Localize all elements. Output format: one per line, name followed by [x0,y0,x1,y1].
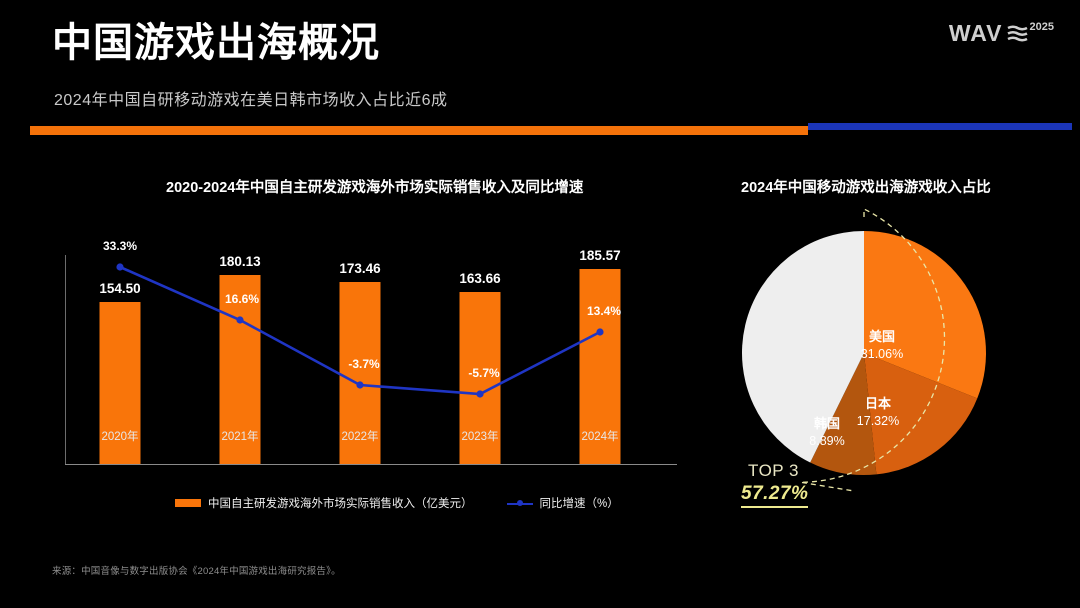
growth-rate-label: 13.4% [587,304,621,318]
x-axis-label: 2020年 [101,428,138,444]
pie-slice-label: 美国31.06% [842,328,922,362]
bar-column: 163.662023年 [423,254,538,464]
pie-slice-value: 31.06% [842,346,922,363]
top3-value: 57.27% [741,483,808,508]
pie-slice-name: 韩国 [787,415,867,433]
logo-year: 2025 [1030,22,1054,33]
legend-label-growth: 同比增速（%） [540,495,619,511]
bar-column: 154.502020年 [63,254,178,464]
x-axis-label: 2023年 [461,428,498,444]
bar-value-label: 180.13 [219,254,260,269]
pie-slice-value: 8.89% [787,433,867,450]
bar-column: 185.572024年 [543,254,658,464]
growth-rate-label: -5.7% [468,366,499,380]
legend-label-revenue: 中国自主研发游戏海外市场实际销售收入（亿美元） [208,495,473,511]
x-axis-label: 2024年 [581,428,618,444]
divider-orange [30,126,808,135]
slide-canvas: WAV 2025 中国游戏出海概况 2024年中国自研移动游戏在美日韩市场收入占… [0,0,1080,608]
divider-blue [808,123,1072,130]
growth-rate-label: -3.7% [348,357,379,371]
bar-column: 180.132021年 [183,254,298,464]
growth-rate-label: 16.6% [225,292,259,306]
bar-chart: 154.502020年180.132021年173.462022年163.662… [60,205,680,510]
bar-value-label: 163.66 [459,271,500,286]
pie-slice-name: 美国 [842,328,922,346]
top3-label: TOP 3 [748,461,799,481]
line-swatch-icon [507,499,533,508]
bar-chart-legend: 中国自主研发游戏海外市场实际销售收入（亿美元） 同比增速（%） [175,495,619,511]
page-title: 中国游戏出海概况 [52,20,380,66]
growth-rate-label: 33.3% [103,239,137,253]
bar-value-label: 154.50 [99,281,140,296]
x-axis-label: 2021年 [221,428,258,444]
pie-slice-label: 韩国8.89% [787,415,867,449]
legend-item-growth: 同比增速（%） [507,495,619,511]
logo-wordmark: WAV [949,22,1003,45]
bar-swatch-icon [175,499,201,507]
x-axis-label: 2022年 [341,428,378,444]
wave-logo: WAV 2025 [949,22,1054,49]
x-axis-line [65,464,677,465]
pie-slice-name: 日本 [838,395,918,413]
page-subtitle: 2024年中国自研移动游戏在美日韩市场收入占比近6成 [54,86,448,110]
source-note: 来源：中国音像与数字出版协会《2024年中国游戏出海研究报告》。 [52,563,341,577]
pie-chart: 美国31.06%日本17.32%韩国8.89% [700,205,1060,505]
bar-value-label: 173.46 [339,261,380,276]
pie-chart-title: 2024年中国移动游戏出海游戏收入占比 [741,176,991,197]
wave-e-icon [1006,23,1028,50]
bar-value-label: 185.57 [579,248,620,263]
bar-chart-title: 2020-2024年中国自主研发游戏海外市场实际销售收入及同比增速 [166,176,583,197]
legend-item-revenue: 中国自主研发游戏海外市场实际销售收入（亿美元） [175,495,473,511]
